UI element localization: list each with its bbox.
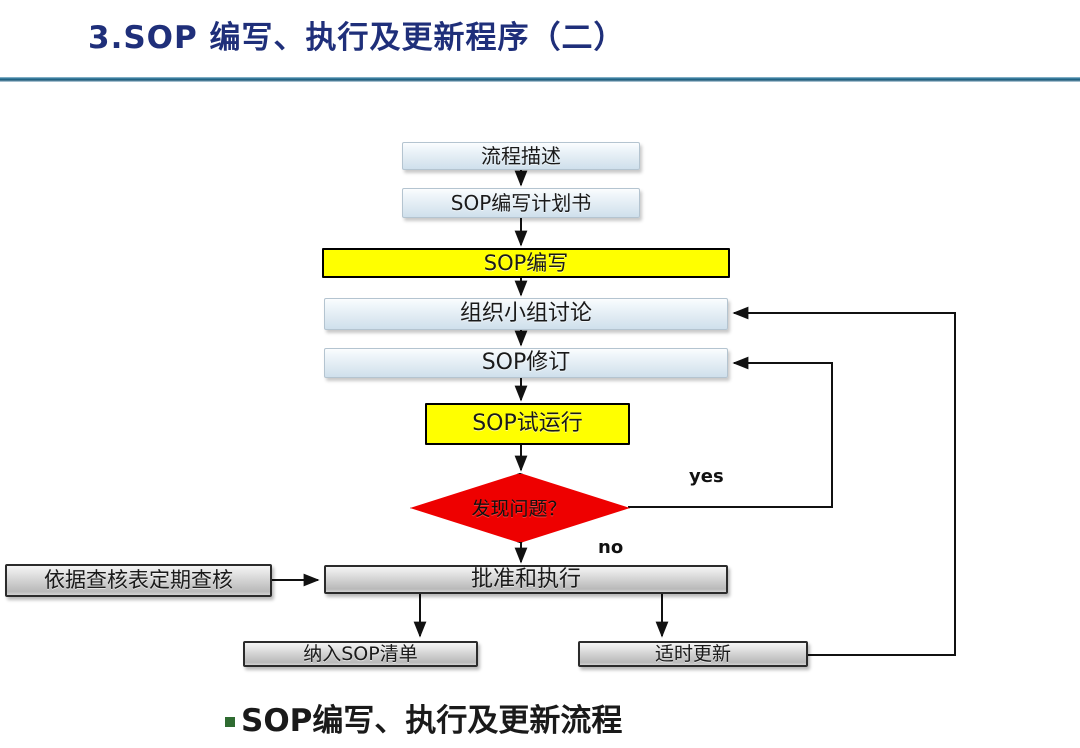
- flow-node-decision-found-problem[interactable]: 发现问题？: [410, 473, 628, 541]
- flow-node-label: SOP试运行: [472, 413, 583, 435]
- flowchart: 流程描述 SOP编写计划书 SOP编写 组织小组讨论 SOP修订 SOP试运行 …: [0, 0, 1080, 748]
- flow-node-add-to-sop-list[interactable]: 纳入SOP清单: [243, 641, 478, 667]
- flow-node-label: 批准和执行: [471, 569, 581, 591]
- flow-node-sop-plan[interactable]: SOP编写计划书: [402, 188, 640, 218]
- flow-node-timely-update[interactable]: 适时更新: [578, 641, 808, 667]
- bullet-square-icon: [225, 717, 235, 727]
- flow-node-label: SOP修订: [482, 352, 571, 374]
- flow-node-label: 组织小组讨论: [460, 303, 592, 325]
- flow-node-sop-revise[interactable]: SOP修订: [324, 348, 728, 378]
- flow-node-label: 纳入SOP清单: [303, 645, 417, 664]
- flow-node-sop-trial[interactable]: SOP试运行: [425, 403, 630, 445]
- flow-node-sop-write[interactable]: SOP编写: [322, 248, 730, 278]
- flow-node-approve-execute[interactable]: 批准和执行: [324, 565, 728, 594]
- flow-node-label: 流程描述: [481, 146, 561, 166]
- edge-n7-n5-yes: [628, 363, 832, 507]
- flow-node-label: 适时更新: [655, 645, 731, 664]
- flow-node-periodic-audit[interactable]: 依据查核表定期查核: [5, 564, 272, 597]
- edge-label-no: no: [598, 537, 623, 558]
- flow-node-label: 依据查核表定期查核: [44, 570, 233, 591]
- slide-caption: SOP编写、执行及更新流程: [225, 695, 622, 740]
- edge-label-yes: yes: [689, 466, 724, 487]
- flow-node-label: 发现问题？: [471, 494, 566, 521]
- slide-canvas: 3.SOP 编写、执行及更新程序（二）: [0, 0, 1080, 748]
- edge-n11-n4: [734, 313, 955, 655]
- caption-text: SOP编写、执行及更新流程: [241, 695, 622, 740]
- flow-node-liuchengmiaoshu[interactable]: 流程描述: [402, 142, 640, 170]
- flow-node-label: SOP编写计划书: [451, 193, 592, 213]
- flow-node-group-discussion[interactable]: 组织小组讨论: [324, 298, 728, 330]
- flow-node-label: SOP编写: [484, 253, 569, 274]
